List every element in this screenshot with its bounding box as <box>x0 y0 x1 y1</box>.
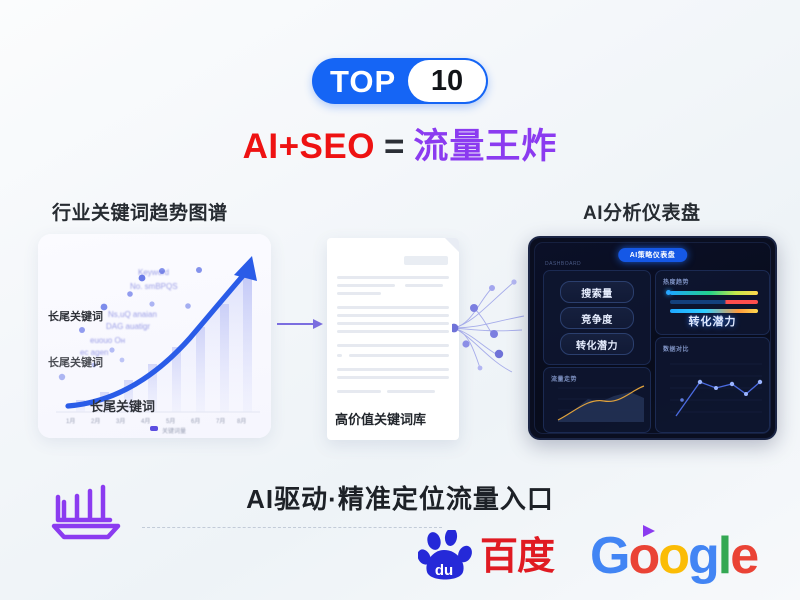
headline-left: AI+SEO <box>243 127 375 166</box>
google-letter-g2: g <box>688 527 718 585</box>
panel-title: 数据对比 <box>663 344 689 353</box>
chart-blur-text: DAG auatigr <box>106 322 150 331</box>
google-letter-e: e <box>730 527 757 585</box>
headline-equals: = <box>384 127 404 166</box>
page-fold-corner <box>445 238 459 252</box>
top-badge-number-pill: 10 <box>408 60 486 102</box>
dashboard-screen: AI策略仪表盘 DASHBOARD 搜索量 竞争度 转化潜力 流量走势 <box>534 242 771 434</box>
right-section-caption: AI分析仪表盘 <box>583 198 701 225</box>
panel-overlay-label: 转化潜力 <box>689 313 737 329</box>
gradient-bar <box>670 291 758 295</box>
play-triangle-icon <box>640 524 658 538</box>
dashboard-subtitle: DASHBOARD <box>545 261 581 267</box>
dashboard-header-badge: AI策略仪表盘 <box>618 248 688 262</box>
page-title: AI+SEO=流量王炸 <box>0 126 800 168</box>
chart-xtick: 3月 <box>116 416 125 425</box>
keyword-trend-chart-card: Keyword No. smBPQS Ns,uQ anaian DAG auat… <box>38 234 271 438</box>
chart-overlay-label: 长尾关键词 <box>90 396 155 415</box>
chart-xtick: 5月 <box>166 416 175 425</box>
chart-xtick: 2月 <box>91 416 100 425</box>
google-wordmark: Google <box>590 530 757 582</box>
chart-xtick: 6月 <box>191 416 200 425</box>
chart-overlay-label: 长尾关键词 <box>48 308 103 324</box>
google-letter-l: l <box>718 527 730 585</box>
metric-button-conversion[interactable]: 转化潜力 <box>560 333 634 355</box>
slide-canvas: TOP 10 AI+SEO=流量王炸 行业关键词趋势图谱 AI分析仪表盘 <box>0 0 800 600</box>
footer-tagline: AI驱动·精准定位流量入口 <box>0 479 800 516</box>
chart-legend-swatch <box>150 426 158 431</box>
document-title: 高价值关键词库 <box>335 409 426 428</box>
chart-legend-label: 关键词量 <box>162 426 186 435</box>
svg-text:du: du <box>435 562 453 579</box>
top-badge-number: 10 <box>431 67 463 96</box>
left-section-caption: 行业关键词趋势图谱 <box>52 198 228 225</box>
data-comparison-panel: 数据对比 <box>655 337 770 433</box>
chart-blur-text: No. smBPQS <box>130 282 178 291</box>
partner-logos: du 百度 Google <box>418 524 763 586</box>
chart-blur-text: euouo Oн <box>90 336 125 345</box>
chart-overlay-label: 长尾关键词 <box>48 354 103 370</box>
keyword-library-document-card: 高价值关键词库 <box>327 238 459 440</box>
chart-blur-text: Ns,uQ anaian <box>108 310 157 319</box>
doc-header-chip <box>404 256 448 265</box>
chart-blur-text: Keyword <box>138 268 169 277</box>
google-letter-o2: o <box>658 527 688 585</box>
chart-xtick: 7月 <box>216 416 225 425</box>
top-rank-badge: TOP 10 <box>312 58 488 104</box>
chart-xtick: 4月 <box>141 416 150 425</box>
baidu-paw-icon: du <box>418 530 480 586</box>
gradient-bar <box>670 300 758 304</box>
heat-trend-panel: 热度趋势 转化潜力 <box>655 270 770 335</box>
node-network-graphic <box>452 272 528 382</box>
baidu-wordmark: 百度 <box>480 538 554 576</box>
google-letter-g1: G <box>590 527 628 585</box>
footer-divider <box>142 527 442 528</box>
panel-title: 热度趋势 <box>663 277 689 286</box>
ai-dashboard-card: AI策略仪表盘 DASHBOARD 搜索量 竞争度 转化潜力 流量走势 <box>528 236 777 440</box>
flow-arrow-icon <box>277 318 323 330</box>
chart-xtick: 1月 <box>66 416 75 425</box>
traffic-trend-panel: 流量走势 <box>543 367 651 433</box>
panel-title: 流量走势 <box>551 374 577 383</box>
metric-buttons-panel: 搜索量 竞争度 转化潜力 <box>543 270 651 365</box>
metric-button-competition[interactable]: 竞争度 <box>560 307 634 329</box>
top-badge-label: TOP <box>330 66 396 97</box>
chart-xtick: 8月 <box>237 416 246 425</box>
headline-right: 流量王炸 <box>413 127 557 166</box>
metric-button-search-volume[interactable]: 搜索量 <box>560 281 634 303</box>
